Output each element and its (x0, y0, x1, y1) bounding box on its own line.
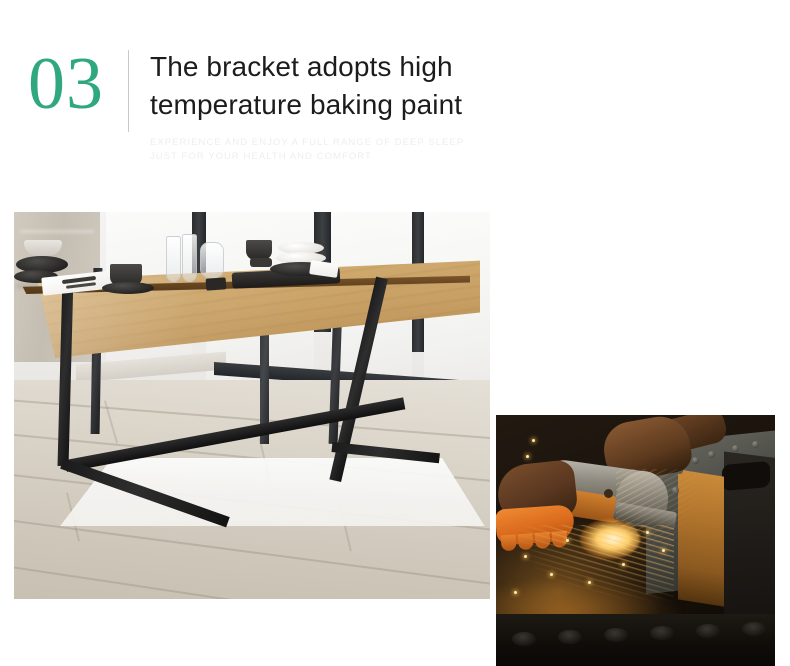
subtitle-line-1: EXPERIENCE AND ENJOY A FULL RANGE OF DEE… (150, 136, 710, 150)
spark-particle (622, 563, 625, 566)
bench-hole (742, 622, 766, 636)
dining-table-photo (14, 212, 490, 599)
wine-glass (182, 234, 197, 282)
bolt-head (732, 445, 739, 452)
bench-hole (512, 632, 536, 646)
spark-particle (514, 591, 517, 594)
header-divider (128, 50, 129, 132)
subtitle: EXPERIENCE AND ENJOY A FULL RANGE OF DEE… (150, 136, 710, 164)
section-number: 03 (28, 36, 104, 132)
spark-particle (588, 581, 591, 584)
heading-line-1: The bracket adopts high (150, 48, 710, 86)
workbench-surface (496, 614, 775, 666)
spark-particle (646, 531, 649, 534)
white-rug (60, 458, 485, 526)
bench-hole (604, 628, 628, 642)
bench-hole (558, 630, 582, 644)
light-bowl (24, 240, 62, 256)
heading-line-2: temperature baking paint (150, 86, 710, 124)
section-header: 03 The bracket adopts high temperature b… (0, 0, 790, 195)
subtitle-line-2: JUST FOR YOUR HEALTH AND COMFORT (150, 150, 710, 164)
tabletop-highlight (28, 252, 480, 360)
bolt-head (752, 441, 759, 448)
bench-hole (696, 624, 720, 638)
dark-bowl (250, 258, 272, 267)
pillar-texture (20, 230, 94, 233)
spark-particle (550, 573, 553, 576)
spark-particle (526, 455, 529, 458)
angle-grinder-knob (604, 489, 613, 498)
bench-hole (650, 626, 674, 640)
small-dish (206, 277, 227, 290)
spark-particle (532, 439, 535, 442)
page-title: The bracket adopts high temperature baki… (150, 48, 710, 124)
floor-plank-line (14, 562, 490, 599)
saucer (102, 282, 154, 294)
spark-particle (524, 555, 527, 558)
glass-carafe (200, 242, 224, 278)
bolt-head (708, 451, 715, 458)
dark-cup (246, 240, 272, 260)
spark-particle (566, 539, 569, 542)
spark-particle (662, 549, 665, 552)
metal-grinding-photo (496, 415, 775, 666)
bolt-head (692, 457, 699, 464)
wine-glass (166, 236, 181, 282)
